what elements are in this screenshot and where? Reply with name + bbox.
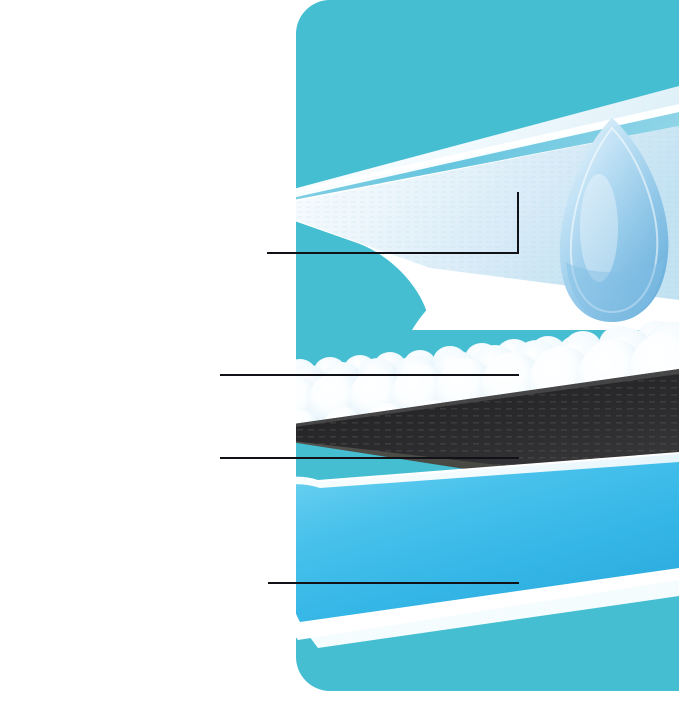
leader-line-silver-ion [220,374,519,376]
brand-wordmark: BLACK SWIFT [8,40,268,126]
leader-line-activated-carbon [220,457,519,459]
teal-background-panel [296,0,679,691]
product-infographic: BLACK SWIFT High-Density Polyester Layer… [0,0,679,705]
leader-line-polyester-1-vertical [517,192,519,254]
callout-label-polyester-2: High-Density Polyester Layer || [2,528,182,589]
leader-line-polyester-2 [268,582,519,584]
callout-label-silver-ion: Silver Ion Infused Layer [2,320,143,381]
callout-label-polyester-1: High-Density Polyester Layer | [2,198,176,259]
callout-label-activated-carbon: Activated Carbon Layer [2,400,143,461]
leader-line-polyester-1 [267,252,519,254]
